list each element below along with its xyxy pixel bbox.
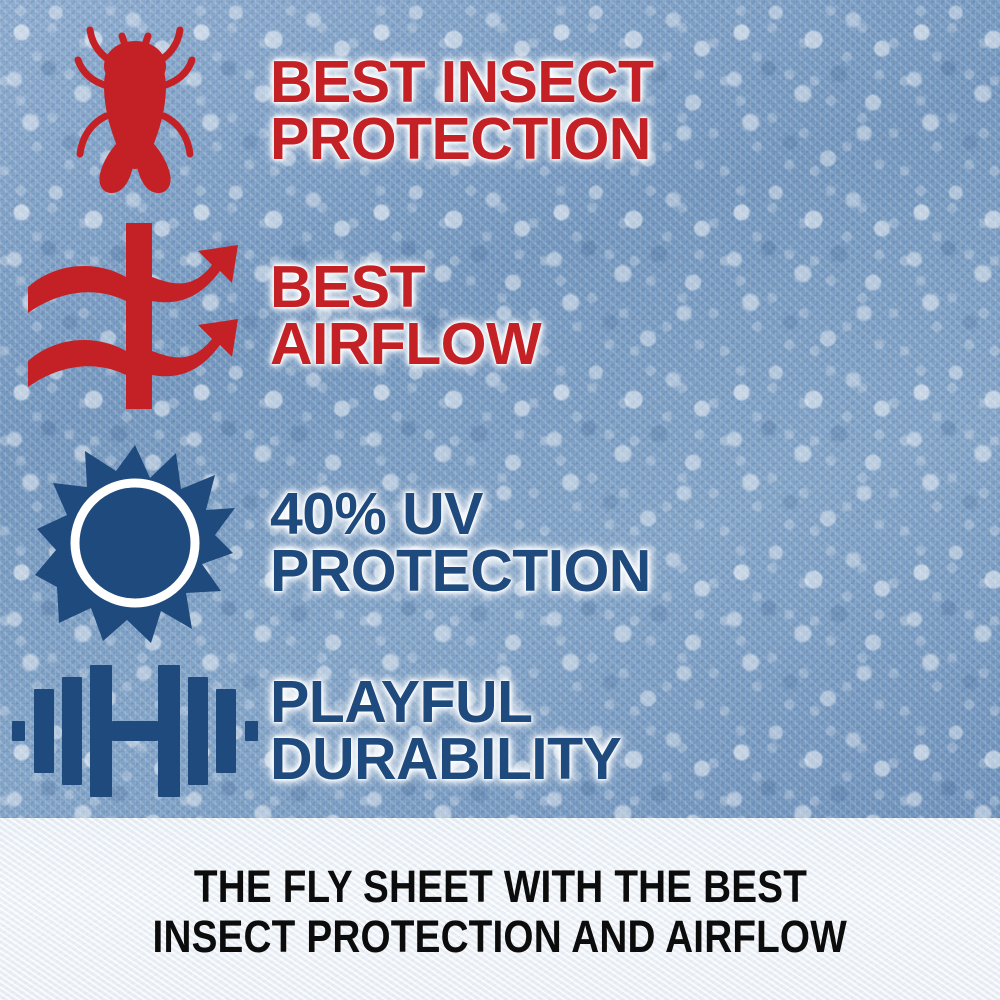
airflow-label: BEST AIRFLOW [270,259,541,372]
insect-protection-line-1: BEST INSECT [270,54,654,111]
caption-line-1: THE FLY SHEET WITH THE BEST [193,862,806,912]
fly-icon [60,20,210,202]
insect-protection-label: BEST INSECT PROTECTION [270,54,654,167]
airflow-icon-cell [0,221,270,411]
sun-icon-cell [0,443,270,643]
insect-protection-line-2: PROTECTION [270,111,654,168]
uv-protection-line-2: PROTECTION [270,543,651,600]
durability-label: PLAYFUL DURABILITY [270,674,621,787]
airflow-line-2: AIRFLOW [270,316,541,373]
feature-row-uv-protection: 40% UV PROTECTION [0,436,1000,650]
durability-line-1: PLAYFUL [270,674,621,731]
durability-line-2: DURABILITY [270,731,621,788]
dumbbell-icon [10,661,260,801]
airflow-through-barrier-icon [22,221,248,411]
feature-row-airflow: BEST AIRFLOW [0,218,1000,414]
fly-icon-cell [0,20,270,202]
feature-row-insect-protection: BEST INSECT PROTECTION [0,16,1000,206]
airflow-line-1: BEST [270,259,541,316]
caption-line-2: INSECT PROTECTION AND AIRFLOW [153,912,847,962]
uv-protection-line-1: 40% UV [270,486,651,543]
uv-protection-label: 40% UV PROTECTION [270,486,651,599]
feature-row-durability: PLAYFUL DURABILITY [0,648,1000,814]
infographic-poster: BEST INSECT PROTECTION BEST AIRF [0,0,1000,1000]
sun-uv-icon [35,443,235,643]
dumbbell-icon-cell [0,661,270,801]
caption-banner: THE FLY SHEET WITH THE BEST INSECT PROTE… [0,818,1000,1000]
